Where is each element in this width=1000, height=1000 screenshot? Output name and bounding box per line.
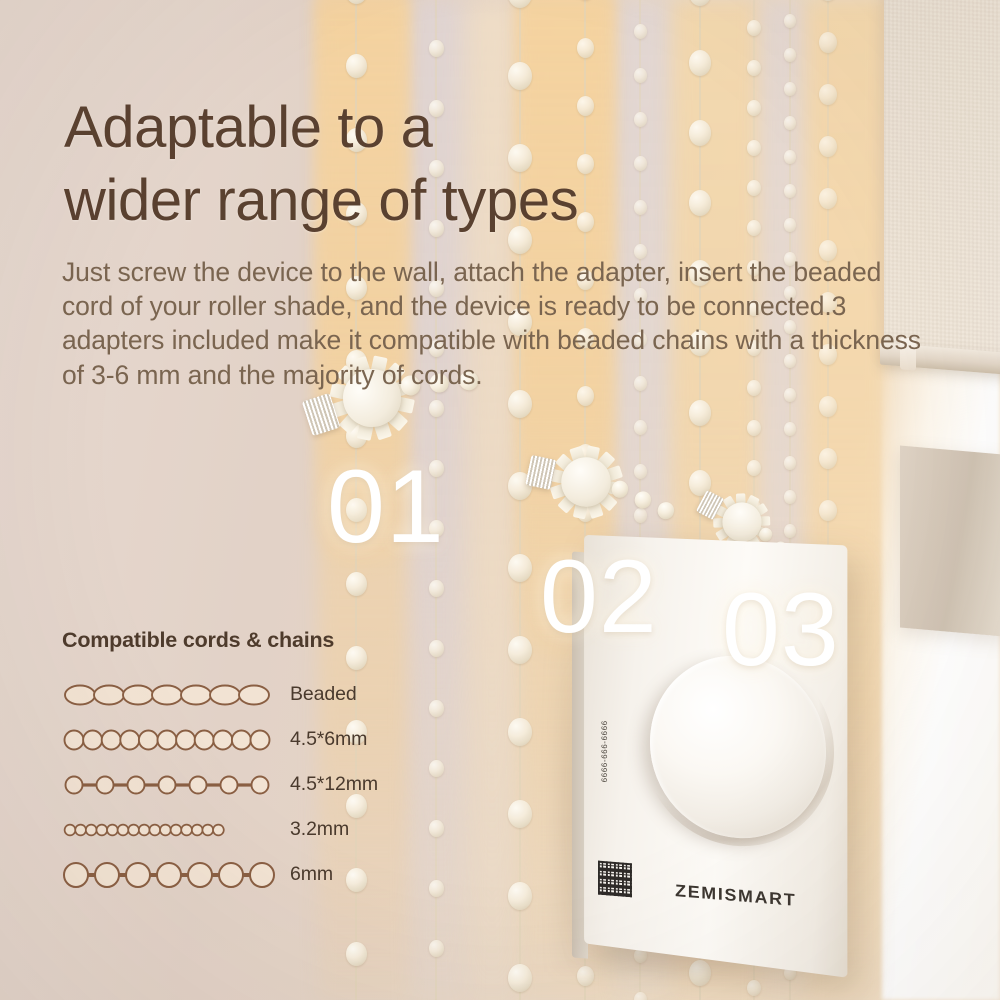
legend-row: 4.5*12mm [62,765,442,804]
legend-row: 6mm [62,855,442,894]
product-marketing-image: 6666-666-6666 ZEMISMART Adaptable to a w… [0,0,1000,1000]
qr-code-icon [598,861,632,898]
window-light [882,330,1000,1000]
headline-line-1: Adaptable to a [64,95,432,160]
headline-line-2: wider range of types [64,164,764,237]
large-round-bead-chain-icon [62,862,284,888]
compatibility-legend: Compatible cords & chains Beaded4.5*6mm4… [62,628,442,900]
legend-row: 3.2mm [62,810,442,849]
legend-row: Beaded [62,675,442,714]
wall-return-surface [900,445,1000,636]
beaded-oval-chain-icon [62,682,284,708]
page-title: Adaptable to a wider range of types [64,91,764,237]
step-badge-03: 03 [722,578,840,682]
device-serial-number: 6666-666-6666 [600,720,609,783]
spaced-round-bead-chain-icon [62,772,284,798]
micro-bead-chain-icon [62,817,284,843]
description-paragraph: Just screw the device to the wall, attac… [62,255,930,393]
legend-row-label: 3.2mm [290,818,349,841]
touching-round-bead-chain-icon [62,727,284,753]
legend-row: 4.5*6mm [62,720,442,759]
legend-row-label: 4.5*12mm [290,773,378,796]
step-badge-02: 02 [540,545,658,649]
legend-row-list: Beaded4.5*6mm4.5*12mm3.2mm6mm [62,675,442,894]
legend-row-label: Beaded [290,683,357,706]
step-badge-01: 01 [327,455,445,559]
legend-title: Compatible cords & chains [62,628,442,653]
legend-row-label: 4.5*6mm [290,728,367,751]
legend-row-label: 6mm [290,863,333,886]
